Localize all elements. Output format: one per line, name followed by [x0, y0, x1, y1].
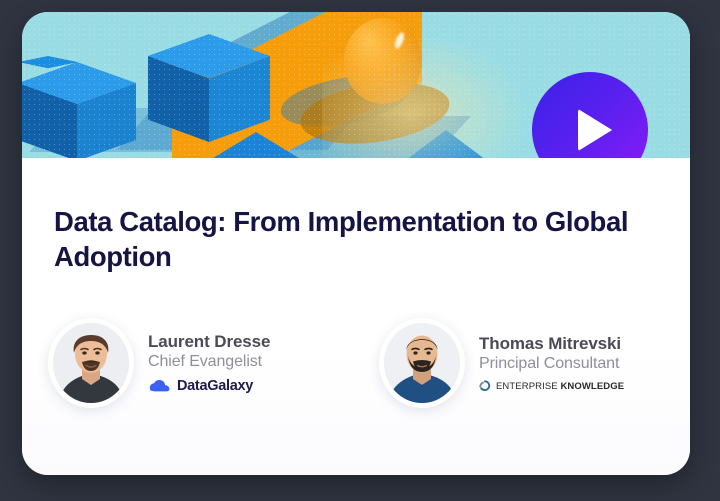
speaker-card-thomas-mitrevski: Thomas Mitrevski Principal Consultant EN… — [379, 318, 668, 408]
speaker-card-laurent-dresse: Laurent Dresse Chief Evangelist DataGala… — [48, 318, 337, 408]
company-logo-enterprise-knowledge: ENTERPRISE KNOWLEDGE — [479, 380, 624, 393]
ring-icon — [479, 380, 491, 393]
cube-left — [22, 56, 136, 158]
company-logo-datagalaxy: DataGalaxy — [148, 378, 270, 394]
avatar-wrapper — [48, 318, 134, 408]
avatar-wrapper — [379, 318, 465, 408]
speaker-info: Thomas Mitrevski Principal Consultant EN… — [479, 334, 624, 393]
page-title: Data Catalog: From Implementation to Glo… — [54, 204, 634, 274]
speaker-name: Thomas Mitrevski — [479, 334, 624, 354]
cube-center — [148, 34, 270, 146]
page-backdrop: Data Catalog: From Implementation to Glo… — [0, 0, 720, 501]
speaker-role: Chief Evangelist — [148, 353, 270, 371]
company-name-part1: ENTERPRISE — [496, 381, 560, 392]
avatar — [53, 323, 129, 403]
speaker-role: Principal Consultant — [479, 355, 624, 373]
company-name-part2: KNOWLEDGE — [560, 381, 624, 392]
speaker-info: Laurent Dresse Chief Evangelist DataGala… — [148, 332, 270, 394]
play-triangle-icon — [578, 109, 612, 151]
card-body: Data Catalog: From Implementation to Glo… — [22, 158, 690, 475]
speakers-list: Laurent Dresse Chief Evangelist DataGala… — [48, 318, 668, 408]
speaker-name: Laurent Dresse — [148, 332, 270, 352]
avatar — [384, 323, 460, 403]
orange-sphere — [344, 18, 422, 104]
triangle-shape-2 — [190, 132, 322, 158]
webinar-video-card[interactable]: Data Catalog: From Implementation to Glo… — [22, 12, 690, 475]
company-name: ENTERPRISE KNOWLEDGE — [496, 381, 624, 392]
cloud-icon — [148, 378, 172, 394]
company-name: DataGalaxy — [177, 378, 253, 394]
